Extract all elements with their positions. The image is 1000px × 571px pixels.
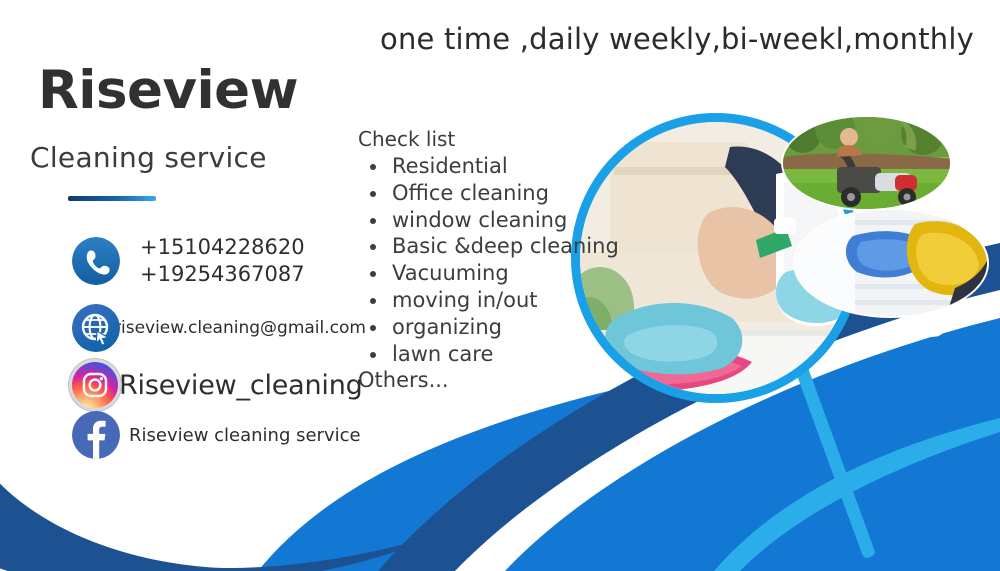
brand-tagline: Cleaning service <box>30 141 267 174</box>
list-item: moving in/out <box>358 287 643 314</box>
phone-numbers: +15104228620 +19254367087 <box>140 234 305 288</box>
brand-divider <box>68 196 156 201</box>
oval-photo-lawn-care <box>781 115 952 211</box>
glove-wiping-illustration <box>795 210 989 318</box>
contact-row-instagram[interactable]: Riseview_cleaning <box>72 362 363 408</box>
checklist-footer: Others... <box>358 368 643 392</box>
business-flyer: one time ,daily weekly,bi-weekl,monthly … <box>0 0 1000 571</box>
facebook-icon-glyph <box>72 411 120 459</box>
checklist-items: Residential Office cleaning window clean… <box>358 153 643 367</box>
phone-number-2: +19254367087 <box>140 262 305 286</box>
list-item: lawn care <box>358 341 643 368</box>
phone-icon-glyph <box>72 237 120 285</box>
instagram-icon-glyph <box>82 372 108 398</box>
list-item: organizing <box>358 314 643 341</box>
checklist: Check list Residential Office cleaning w… <box>358 127 643 392</box>
oval-photo-glove-wiping <box>793 208 989 318</box>
brand-name: Riseview <box>38 60 298 121</box>
email-address: riseview.cleaning@gmail.com <box>114 318 366 338</box>
globe-cursor-icon <box>72 304 120 352</box>
instagram-icon-badge <box>72 362 118 408</box>
instagram-icon <box>72 362 118 408</box>
list-item: Vacuuming <box>358 260 643 287</box>
list-item: Basic &deep cleaning <box>358 233 643 260</box>
facebook-icon <box>72 411 120 459</box>
contact-row-facebook[interactable]: Riseview cleaning service <box>72 411 361 459</box>
list-item: Residential <box>358 153 643 180</box>
phone-number-1: +15104228620 <box>140 235 305 259</box>
list-item: window cleaning <box>358 207 643 234</box>
list-item: Office cleaning <box>358 180 643 207</box>
contact-row-email[interactable]: riseview.cleaning@gmail.com <box>72 304 366 352</box>
schedule-line: one time ,daily weekly,bi-weekl,monthly <box>380 22 974 56</box>
globe-cursor-icon-glyph <box>72 304 120 352</box>
facebook-page: Riseview cleaning service <box>129 425 361 446</box>
lawn-mower-illustration <box>783 117 952 211</box>
instagram-handle: Riseview_cleaning <box>119 370 363 401</box>
phone-icon <box>72 237 120 285</box>
checklist-title: Check list <box>358 127 643 151</box>
contact-row-phone[interactable]: +15104228620 +19254367087 <box>72 234 305 288</box>
